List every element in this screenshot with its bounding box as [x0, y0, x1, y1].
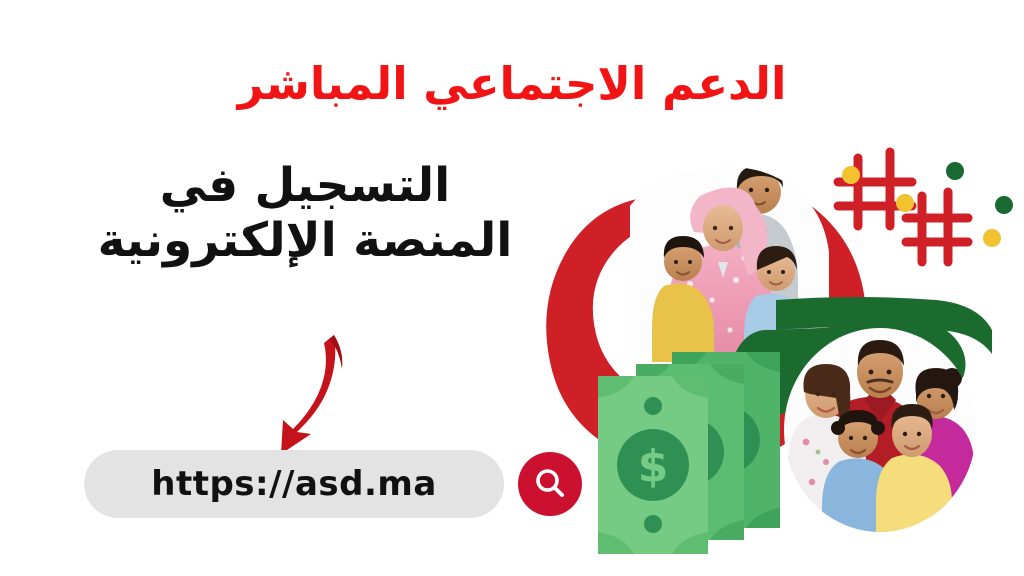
svg-text:$: $: [675, 428, 704, 477]
banknote-front: $: [598, 376, 708, 554]
url-input[interactable]: https://asd.ma: [84, 450, 504, 518]
search-icon: [531, 465, 569, 503]
red-crescent-shape: [546, 177, 866, 469]
svg-text:$: $: [711, 416, 740, 465]
subtitle-line-1: التسجيل في: [40, 158, 570, 213]
banknote-back: $: [672, 352, 780, 528]
search-button[interactable]: [518, 452, 582, 516]
subtitle: التسجيل في المنصة الإلكترونية: [40, 158, 570, 269]
url-text: https://asd.ma: [151, 464, 437, 504]
green-blob-shape: [731, 297, 1000, 414]
banner-root: $ $: [0, 0, 1024, 576]
page-title: الدعم الاجتماعي المباشر: [0, 60, 1024, 107]
decorative-dots: [842, 162, 1013, 247]
red-hash-decoration: [838, 152, 968, 262]
svg-text:$: $: [638, 441, 669, 492]
banknote-middle: $: [636, 364, 744, 540]
subtitle-line-2: المنصة الإلكترونية: [40, 213, 570, 268]
money-illustration: $ $: [598, 352, 780, 554]
curved-arrow-icon: [262, 325, 392, 470]
url-row: https://asd.ma: [84, 450, 584, 524]
bottom-family-photo: [780, 325, 980, 548]
top-family-photo: [630, 160, 860, 366]
